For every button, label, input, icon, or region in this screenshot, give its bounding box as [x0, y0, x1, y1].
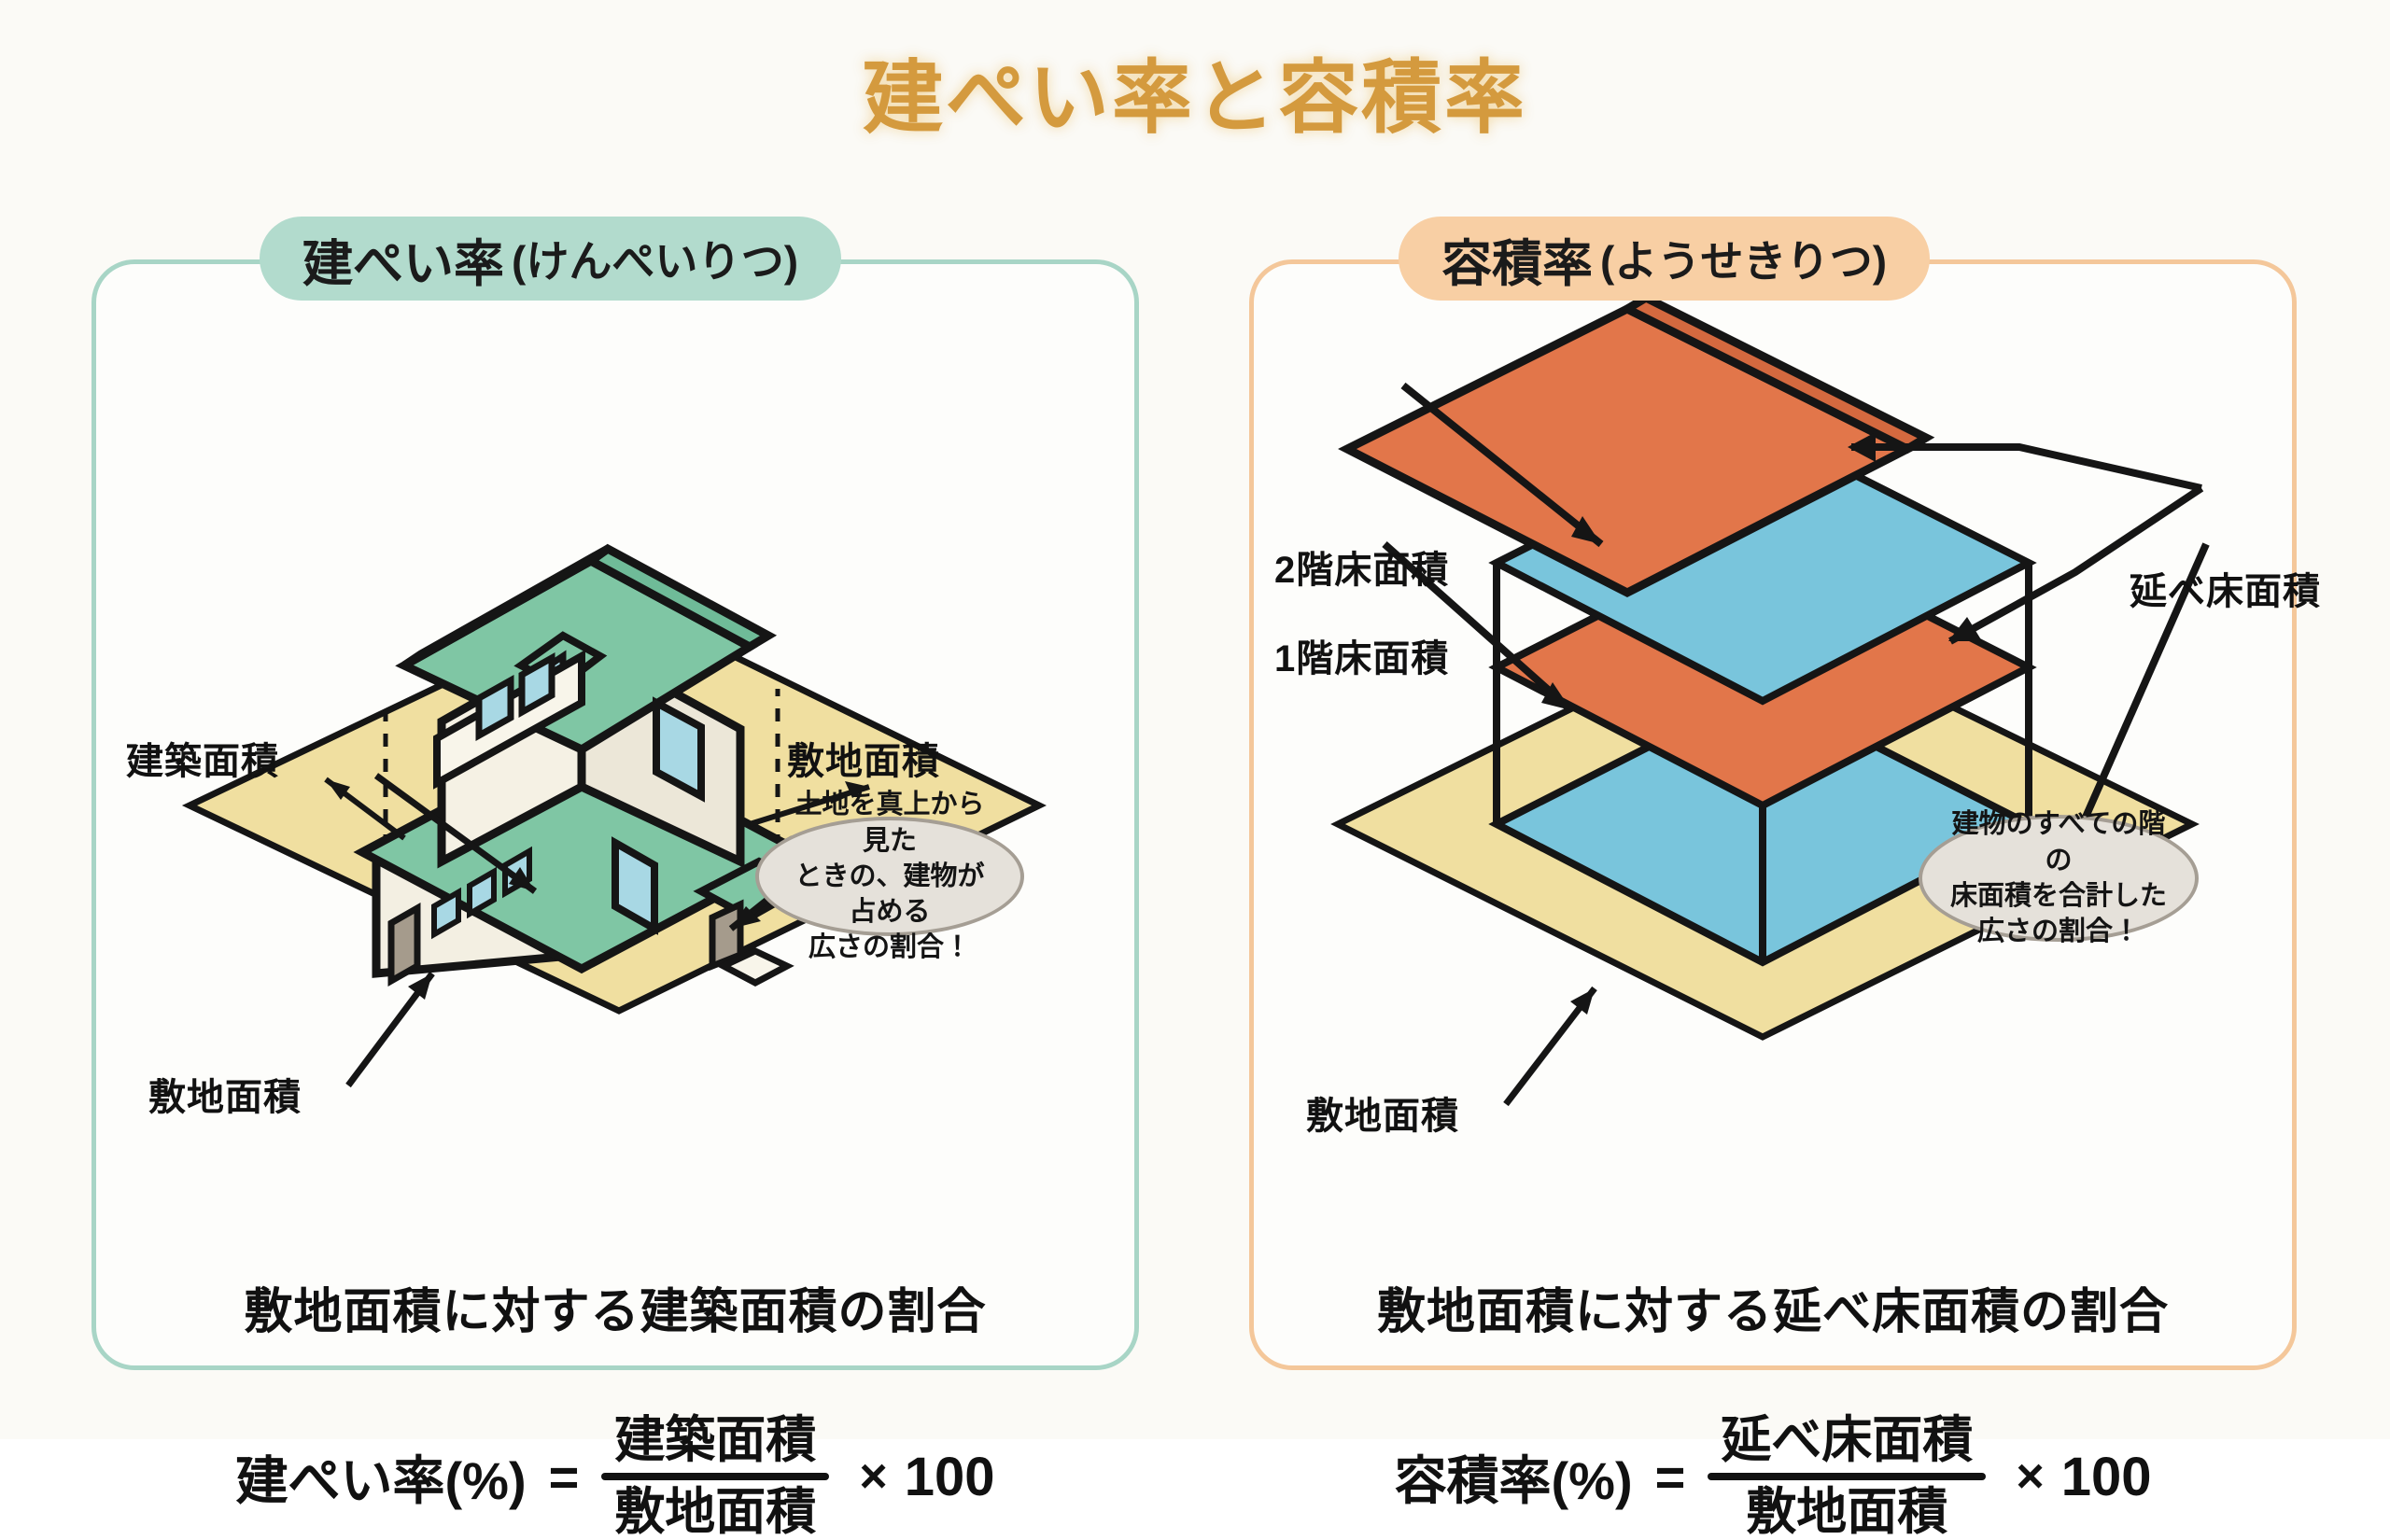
formula-fraction: 建築面積 敷地面積 [601, 1414, 829, 1539]
formula-numerator: 延べ床面積 [1708, 1414, 1986, 1473]
second-floor-slab [1497, 532, 2029, 805]
bubble-line-2: ときの、建物が占める [783, 859, 996, 931]
speech-bubble-kenpeiritsu: 土地を真上から見た ときの、建物が占める 広さの割合！ [755, 817, 1024, 936]
bubble-line-2: 床面積を合計した [1947, 878, 2171, 914]
formula-equals: = [549, 1447, 580, 1507]
formula-lhs: 容積率(%) [1395, 1439, 1633, 1515]
page-title: 建ぺい率と容積率 [0, 32, 2390, 148]
formula-times: × [2016, 1449, 2044, 1505]
formula-times: × [859, 1449, 887, 1505]
label-floor2-area: 2階床面積 [1274, 539, 1449, 594]
formula-kenpeiritsu: 建ぺい率(%) = 建築面積 敷地面積 × 100 [96, 1414, 1134, 1539]
formula-lhs: 建ぺい率(%) [236, 1439, 527, 1515]
description-kenpeiritsu: 敷地面積に対する建築面積の割合 [96, 1272, 1134, 1342]
building-footprint-shape [386, 754, 778, 941]
label-site-area-bottom: 敷地面積 [148, 1067, 302, 1121]
badge-sub-text: (けんぺいりつ) [512, 228, 798, 289]
label-site-area-bottom: 敷地面積 [1306, 1085, 1459, 1140]
badge-yousekiritsu: 容積率 (ようせきりつ) [1399, 217, 1930, 301]
badge-kenpeiritsu: 建ぺい率 (けんぺいりつ) [260, 217, 841, 301]
label-floor1-area: 1階床面積 [1274, 628, 1449, 682]
badge-sub-text: (ようせきりつ) [1600, 228, 1887, 289]
bubble-line-1: 建物のすべての階の [1947, 806, 2171, 878]
label-building-area: 建築面積 [126, 731, 279, 785]
label-total-floor-area: 延べ床面積 [2130, 561, 2321, 615]
formula-numerator: 建築面積 [601, 1414, 829, 1473]
badge-main-text: 容積率 [1441, 222, 1593, 296]
label-site-area-right: 敷地面積 [787, 731, 940, 785]
formula-equals: = [1655, 1447, 1686, 1507]
formula-denominator: 敷地面積 [601, 1480, 829, 1539]
second-floor-plane [1497, 428, 2029, 701]
bubble-line-3: 広さの割合！ [1947, 914, 2171, 949]
panel-kenpeiritsu: 建築面積 敷地面積 敷地面積 土地を真上から見た ときの、建物が占める 広さの割… [91, 259, 1139, 1370]
description-yousekiritsu: 敷地面積に対する延べ床面積の割合 [1254, 1272, 2292, 1342]
formula-factor: 100 [905, 1446, 995, 1508]
formula-yousekiritsu: 容積率(%) = 延べ床面積 敷地面積 × 100 [1254, 1414, 2292, 1539]
bubble-line-3: 広さの割合！ [783, 930, 996, 965]
speech-bubble-yousekiritsu: 建物のすべての階の 床面積を合計した 広さの割合！ [1919, 815, 2199, 942]
formula-factor: 100 [2061, 1446, 2152, 1508]
infographic-page: 建ぺい率と容積率 [0, 0, 2390, 1439]
formula-fraction: 延べ床面積 敷地面積 [1708, 1414, 1986, 1539]
badge-main-text: 建ぺい率 [302, 222, 504, 296]
panel-yousekiritsu: 2階床面積 1階床面積 延べ床面積 敷地面積 建物のすべての階の 床面積を合計し… [1249, 259, 2297, 1370]
fraction-bar [601, 1473, 829, 1480]
bubble-line-1: 土地を真上から見た [783, 787, 996, 859]
formula-denominator: 敷地面積 [1733, 1480, 1961, 1539]
fraction-bar [1708, 1473, 1986, 1480]
